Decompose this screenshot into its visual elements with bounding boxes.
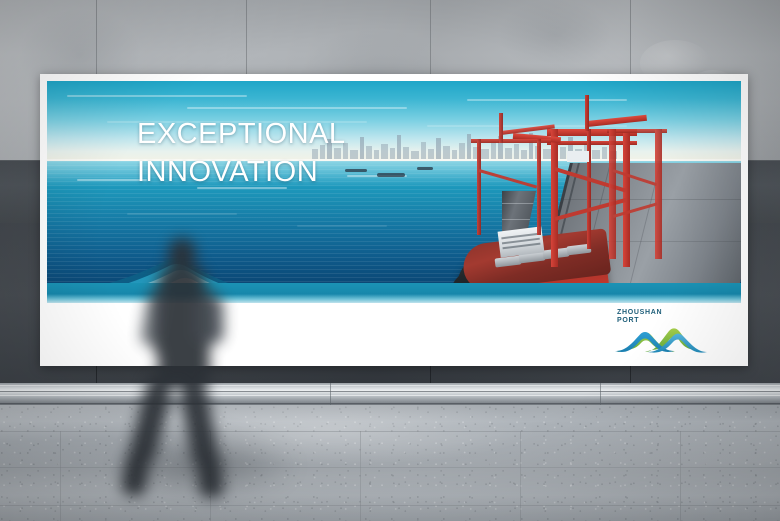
gantry-crane-right bbox=[607, 115, 667, 265]
headline-line-2: INNOVATION bbox=[137, 155, 467, 189]
gantry-crane-rear bbox=[471, 123, 551, 243]
pedestrian-figure bbox=[120, 238, 260, 498]
logo-name-line-1: ZHOUSHAN bbox=[617, 309, 662, 317]
logo-wordmark: ZHOUSHAN PORT bbox=[617, 309, 662, 324]
billboard-headline: EXCEPTIONAL INNOVATION bbox=[137, 117, 467, 189]
headline-line-1: EXCEPTIONAL bbox=[137, 117, 467, 151]
zhoushan-port-logo: ZHOUSHAN PORT bbox=[615, 309, 707, 355]
logo-wave-mark bbox=[615, 326, 707, 354]
logo-name-line-2: PORT bbox=[617, 317, 662, 325]
wall-skirting bbox=[0, 383, 780, 405]
billboard-mockup-scene: EXCEPTIONAL INNOVATION bbox=[0, 0, 780, 521]
